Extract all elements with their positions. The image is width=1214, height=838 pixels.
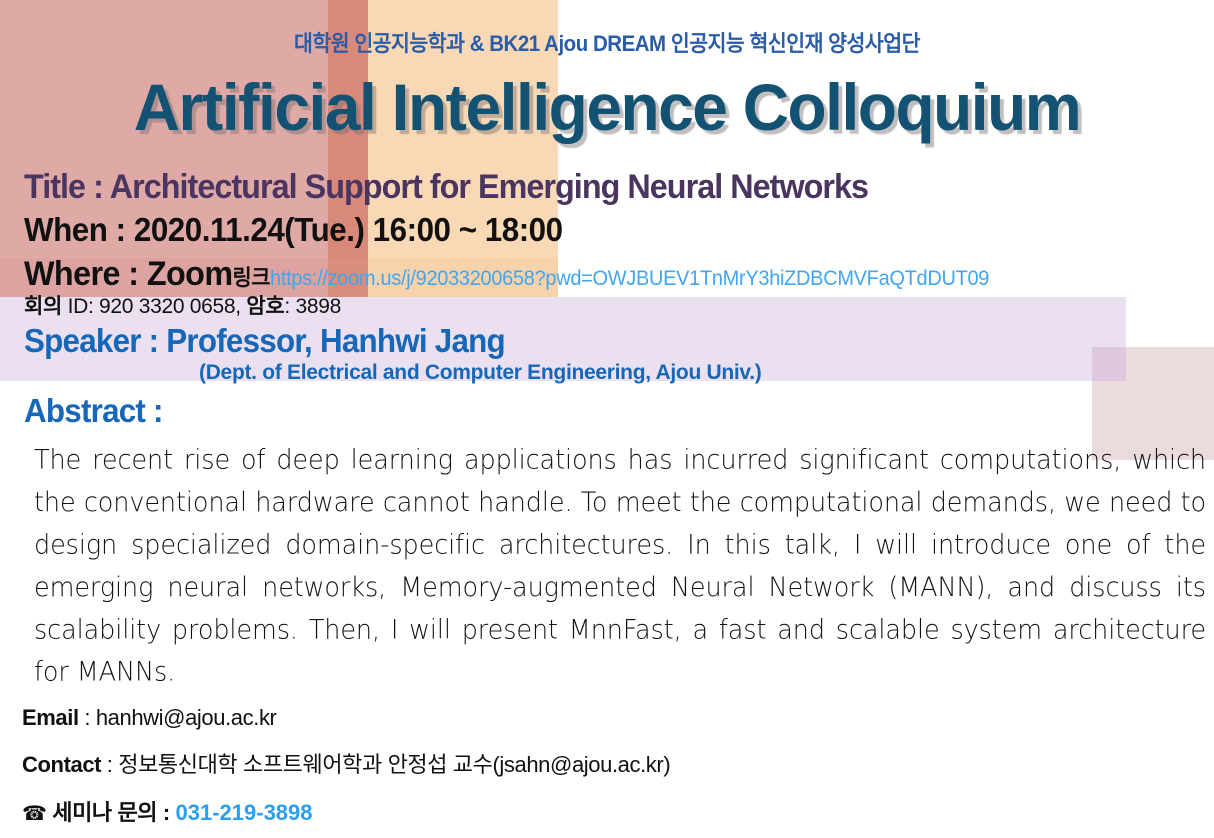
contact-block: Email : hanhwi@ajou.ac.kr Contact : 정보통신… bbox=[0, 705, 1214, 827]
where-label: Where : Zoom bbox=[24, 255, 232, 293]
organization-subheading: 대학원 인공지능학과 & BK21 Ajou DREAM 인공지능 혁신인재 양… bbox=[42, 0, 1171, 55]
seminar-inquiry-label: 세미나 문의 : bbox=[47, 800, 176, 825]
when-line: When : 2020.11.24(Tue.) 16:00 ~ 18:00 bbox=[24, 213, 1155, 248]
event-details: Title : Architectural Support for Emergi… bbox=[0, 170, 1214, 678]
poster-content: 대학원 인공지능학과 & BK21 Ajou DREAM 인공지능 혁신인재 양… bbox=[0, 0, 1214, 827]
talk-title-line: Title : Architectural Support for Emergi… bbox=[24, 170, 1155, 206]
speaker-label: Speaker : bbox=[24, 322, 166, 359]
contact-person-line: Contact : 정보통신대학 소프트웨어학과 안정섭 교수(jsahn@aj… bbox=[22, 747, 1214, 779]
email-line: Email : hanhwi@ajou.ac.kr bbox=[22, 705, 1214, 731]
contact-separator: : bbox=[101, 752, 118, 777]
meeting-id-label: 회의 bbox=[24, 295, 62, 318]
talk-title-value: Architectural Support for Emerging Neura… bbox=[110, 168, 868, 206]
abstract-body: The recent rise of deep learning applica… bbox=[24, 439, 1214, 693]
meeting-credentials-line: 회의 ID: 920 3320 0658, 암호: 3898 bbox=[24, 296, 1214, 318]
email-label: Email bbox=[22, 705, 79, 730]
passcode-label: 암호 bbox=[246, 295, 284, 318]
email-value[interactable]: hanhwi@ajou.ac.kr bbox=[96, 705, 277, 730]
poster-canvas: 대학원 인공지능학과 & BK21 Ajou DREAM 인공지능 혁신인재 양… bbox=[0, 0, 1214, 838]
speaker-line: Speaker : Professor, Hanhwi Jang bbox=[24, 324, 1155, 359]
contact-label: Contact bbox=[22, 752, 101, 777]
zoom-link[interactable]: https://zoom.us/j/92033200658?pwd=OWJBUE… bbox=[270, 267, 989, 290]
when-label: When : bbox=[24, 211, 134, 248]
meeting-id-value: ID: 920 3320 0658, bbox=[62, 295, 246, 318]
telephone-icon: ☎ bbox=[22, 803, 47, 825]
abstract-heading: Abstract : bbox=[24, 394, 1155, 429]
where-line: Where : Zoom링크https://zoom.us/j/92033200… bbox=[24, 257, 1155, 293]
where-link-label: 링크 bbox=[232, 265, 270, 290]
passcode-value: : 3898 bbox=[284, 295, 341, 318]
contact-value[interactable]: 정보통신대학 소프트웨어학과 안정섭 교수(jsahn@ajou.ac.kr) bbox=[118, 752, 670, 777]
page-title: Artificial Intelligence Colloquium bbox=[18, 73, 1196, 142]
seminar-phone-line: ☎ 세미나 문의 : 031-219-3898 bbox=[22, 795, 1214, 827]
speaker-department: (Dept. of Electrical and Computer Engine… bbox=[24, 362, 1214, 384]
when-value: 2020.11.24(Tue.) 16:00 ~ 18:00 bbox=[134, 211, 563, 248]
talk-title-label: Title : bbox=[24, 168, 110, 206]
speaker-value: Professor, Hanhwi Jang bbox=[166, 322, 505, 359]
phone-number[interactable]: 031-219-3898 bbox=[176, 800, 313, 825]
email-separator: : bbox=[79, 705, 96, 730]
